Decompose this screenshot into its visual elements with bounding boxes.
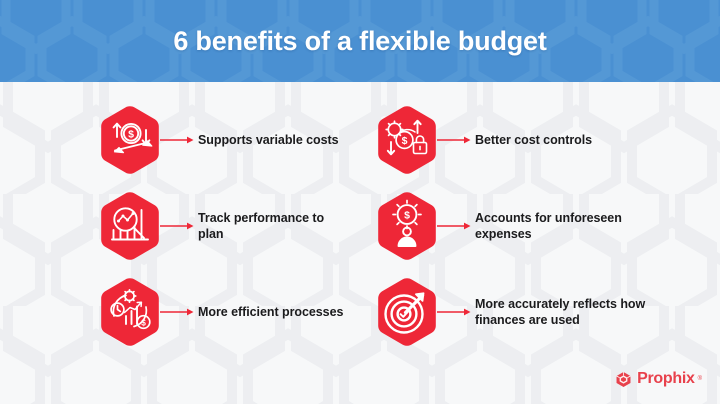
svg-text:$: $ bbox=[404, 209, 410, 221]
connector-arrow-icon bbox=[437, 221, 473, 231]
benefit-label: Track performance to plan bbox=[198, 210, 348, 243]
connector-arrow-icon bbox=[437, 135, 473, 145]
svg-text:$: $ bbox=[128, 129, 134, 141]
target-arrow-check-icon bbox=[375, 276, 439, 348]
page-title: 6 benefits of a flexible budget bbox=[0, 0, 720, 82]
benefit-item-more-accurately-reflects-finances[interactable]: More accurately reflects how finances ar… bbox=[375, 276, 655, 348]
benefit-label: Better cost controls bbox=[475, 132, 592, 149]
magnifier-bar-chart-icon bbox=[98, 190, 162, 262]
benefit-item-better-cost-controls[interactable]: $ Better cost controls bbox=[375, 104, 655, 176]
benefit-item-track-performance-to-plan[interactable]: Track performance to plan bbox=[98, 190, 348, 262]
connector-arrow-icon bbox=[437, 307, 473, 317]
logo-text: Prophix bbox=[637, 370, 694, 388]
benefit-label: Accounts for unforeseen expenses bbox=[475, 210, 655, 243]
coin-balance-scale-arrows-icon: $ bbox=[98, 104, 162, 176]
header-band: 6 benefits of a flexible budget bbox=[0, 0, 720, 82]
svg-text:$: $ bbox=[141, 318, 146, 327]
connector-arrow-icon bbox=[160, 221, 196, 231]
prophix-cube-icon bbox=[615, 371, 632, 388]
gear-dollar-padlock-arrows-icon: $ bbox=[375, 104, 439, 176]
logo-trademark: ® bbox=[698, 376, 702, 382]
benefit-item-accounts-for-unforeseen-expenses[interactable]: $ Accounts for unforeseen expenses bbox=[375, 190, 655, 262]
benefits-list: $ Supports variable costs bbox=[0, 82, 720, 404]
person-dollar-coin-icon: $ bbox=[375, 190, 439, 262]
benefit-item-supports-variable-costs[interactable]: $ Supports variable costs bbox=[98, 104, 348, 176]
benefit-label: More accurately reflects how finances ar… bbox=[475, 296, 655, 329]
prophix-logo[interactable]: Prophix ® bbox=[615, 370, 702, 388]
gear-clock-growth-dollar-cycle-icon: $ bbox=[98, 276, 162, 348]
connector-arrow-icon bbox=[160, 307, 196, 317]
benefit-item-more-efficient-processes[interactable]: $ More efficient processes bbox=[98, 276, 348, 348]
benefit-label: More efficient processes bbox=[198, 304, 343, 321]
benefit-label: Supports variable costs bbox=[198, 132, 339, 149]
svg-text:$: $ bbox=[402, 135, 408, 147]
infographic-slide: 6 benefits of a flexible budget bbox=[0, 0, 720, 404]
connector-arrow-icon bbox=[160, 135, 196, 145]
